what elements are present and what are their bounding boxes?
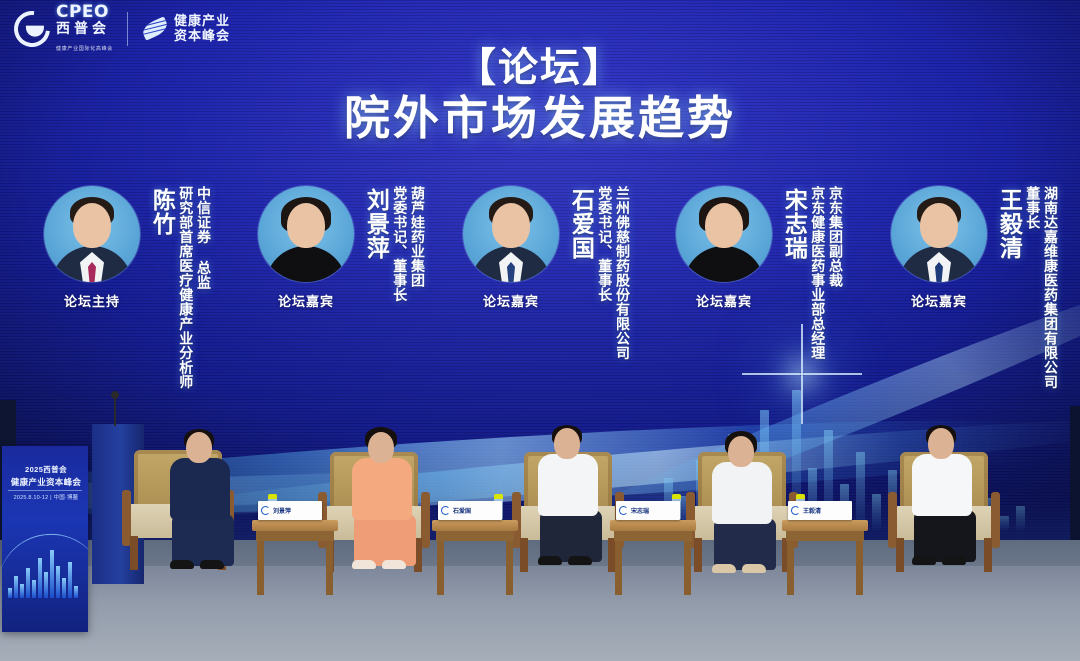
banner-line-1: 2025西普会 xyxy=(8,464,84,475)
panelist-card-3: 论坛嘉宾 宋志瑞 京东健康医药事业部总经理 京东集团副总裁 xyxy=(668,186,846,360)
panelist-text-2: 石爱国 党委书记、董事长 兰州佛慈制药股份有限公司 xyxy=(569,186,633,360)
panelist-position-0: 研究部首席医疗健康产业分析师 xyxy=(178,186,193,389)
panelist-photo-block-2: 论坛嘉宾 xyxy=(455,186,567,310)
cpeo-wordmark: CPEO 西普会 健康产业国际化高峰会 xyxy=(56,4,113,54)
panelist-text-1: 刘景萍 党委书记、董事长 葫芦娃药业集团 xyxy=(364,186,428,302)
panelist-card-4: 论坛嘉宾 王毅清 董事长 湖南达嘉维康医药集团有限公司 xyxy=(883,186,1061,389)
side-table-1: 石爱国 xyxy=(432,520,518,596)
cpeo-abbrev: CPEO xyxy=(56,2,109,22)
panelist-role-0: 论坛主持 xyxy=(36,291,148,310)
panelist-name-3: 宋志瑞 xyxy=(782,188,806,260)
panelist-org-2: 兰州佛慈制药股份有限公司 xyxy=(615,186,630,360)
panelist-text-4: 王毅清 董事长 湖南达嘉维康医药集团有限公司 xyxy=(997,186,1061,389)
nameplate-name-3: 王毅清 xyxy=(803,506,821,515)
panelist-position-3: 京东健康医药事业部总经理 xyxy=(810,186,825,360)
nameplate-1: 石爱国 xyxy=(438,501,502,520)
panelist-name-2: 石爱国 xyxy=(569,188,593,260)
panelist-card-0: 论坛主持 陈竹 研究部首席医疗健康产业分析师 中信证券 总监 xyxy=(36,186,214,389)
avatar xyxy=(891,186,987,282)
panelist-position-4: 董事长 xyxy=(1025,186,1040,230)
cpeo-cn-name: 西普会 xyxy=(56,20,110,36)
panelist-position-1: 党委书记、董事长 xyxy=(392,186,407,302)
panelist-card-2: 论坛嘉宾 石爱国 党委书记、董事长 兰州佛慈制药股份有限公司 xyxy=(455,186,633,360)
health-summit-line1: 健康产业 xyxy=(174,13,230,28)
nameplate-0: 刘景萍 xyxy=(258,501,322,520)
cpeo-tagline: 健康产业国际化高峰会 xyxy=(56,46,113,52)
banner-line-3: 2025.8.10-12 | 中国·博鳌 xyxy=(4,493,88,501)
panelist-photo-block-0: 论坛主持 xyxy=(36,186,148,310)
avatar xyxy=(463,186,559,282)
panelist-role-3: 论坛嘉宾 xyxy=(668,291,780,310)
panelist-text-3: 宋志瑞 京东健康医药事业部总经理 京东集团副总裁 xyxy=(782,186,846,360)
panelist-name-0: 陈竹 xyxy=(150,188,174,236)
panelist-photo-block-1: 论坛嘉宾 xyxy=(250,186,362,310)
panelist-role-1: 论坛嘉宾 xyxy=(250,291,362,310)
panelist-org-0: 中信证券 总监 xyxy=(196,186,211,290)
panelist-role-4: 论坛嘉宾 xyxy=(883,291,995,310)
nameplate-logo-icon xyxy=(791,506,800,515)
panelist-role-2: 论坛嘉宾 xyxy=(455,291,567,310)
nameplate-logo-icon xyxy=(441,506,450,515)
panelist-photo-block-3: 论坛嘉宾 xyxy=(668,186,780,310)
health-capital-summit-logo: 健康产业 资本峰会 xyxy=(142,14,230,43)
health-summit-line2: 资本峰会 xyxy=(174,28,230,43)
panelist-org-3: 京东集团副总裁 xyxy=(828,186,843,288)
leaf-icon xyxy=(140,17,170,41)
nameplate-name-0: 刘景萍 xyxy=(273,506,291,515)
panelist-name-4: 王毅清 xyxy=(997,188,1021,260)
nameplate-name-2: 宋志瑞 xyxy=(631,506,649,515)
panelist-org-4: 湖南达嘉维康医药集团有限公司 xyxy=(1043,186,1058,389)
side-table-2: 宋志瑞 xyxy=(610,520,696,596)
side-table-3: 王毅清 xyxy=(782,520,868,596)
panelist-position-2: 党委书记、董事长 xyxy=(597,186,612,302)
avatar xyxy=(258,186,354,282)
panelist-photo-block-4: 论坛嘉宾 xyxy=(883,186,995,310)
nameplate-logo-icon xyxy=(261,506,270,515)
avatar xyxy=(44,186,140,282)
header-logos: CPEO 西普会 健康产业国际化高峰会 健康产业 资本峰会 xyxy=(14,4,230,54)
panelist-name-1: 刘景萍 xyxy=(364,188,388,260)
panelist-card-1: 论坛嘉宾 刘景萍 党委书记、董事长 葫芦娃药业集团 xyxy=(250,186,428,310)
panelist-text-0: 陈竹 研究部首席医疗健康产业分析师 中信证券 总监 xyxy=(150,186,214,389)
cpeo-ring-icon xyxy=(7,4,58,55)
conference-stage-photo: CPEO 西普会 健康产业国际化高峰会 健康产业 资本峰会 【论坛】 院外市场发… xyxy=(0,0,1080,661)
cpeo-logo: CPEO 西普会 健康产业国际化高峰会 xyxy=(14,4,113,54)
panelist-list: 论坛主持 陈竹 研究部首席医疗健康产业分析师 中信证券 总监 论坛嘉宾 刘景萍 … xyxy=(0,186,1080,436)
health-summit-wordmark: 健康产业 资本峰会 xyxy=(174,14,230,43)
nameplate-name-1: 石爱国 xyxy=(453,506,471,515)
forum-title: 【论坛】 院外市场发展趋势 xyxy=(0,46,1080,145)
nameplate-3: 王毅清 xyxy=(788,501,852,520)
title-line-2: 院外市场发展趋势 xyxy=(0,91,1080,145)
panelist-org-1: 葫芦娃药业集团 xyxy=(410,186,425,288)
logo-divider xyxy=(127,12,128,46)
banner-line-2: 健康产业资本峰会 xyxy=(4,476,88,488)
banner-divider xyxy=(8,490,82,491)
avatar xyxy=(676,186,772,282)
stage-carpet xyxy=(0,566,1080,661)
event-roll-up-banner: 2025西普会 健康产业资本峰会 2025.8.10-12 | 中国·博鳌 xyxy=(2,446,88,632)
nameplate-logo-icon xyxy=(619,506,628,515)
nameplate-2: 宋志瑞 xyxy=(616,501,680,520)
banner-bar-graphic xyxy=(8,542,84,598)
side-table-0: 刘景萍 xyxy=(252,520,338,596)
